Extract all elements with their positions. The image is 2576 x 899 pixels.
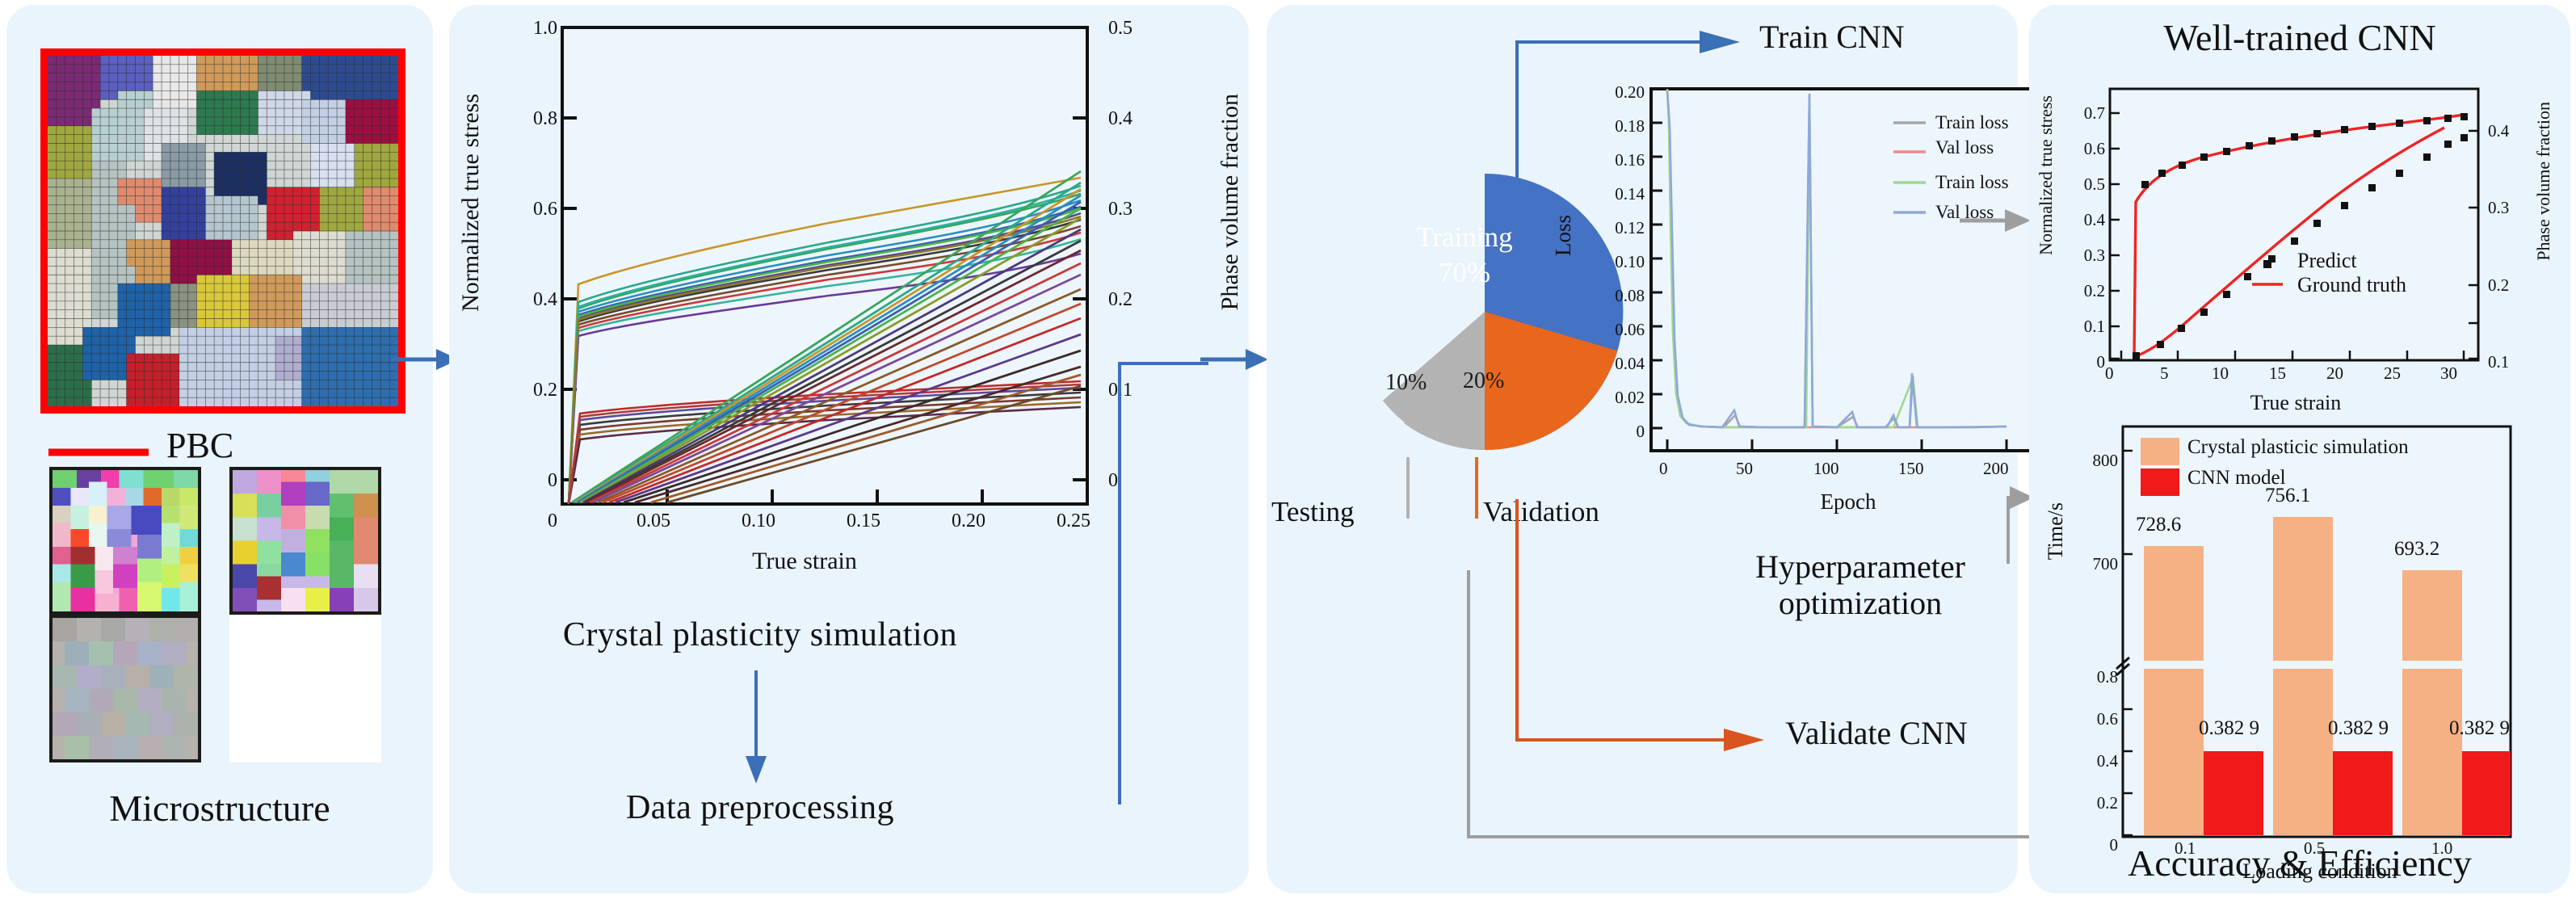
preprocessing-caption: Data preprocessing	[449, 788, 1071, 827]
rve-pbc-border	[40, 48, 406, 414]
predict-chart-xlabel: True strain	[2175, 391, 2417, 415]
loss-legend-label-2: Train loss	[1935, 172, 2009, 193]
elbow-training-to-results	[1460, 570, 2074, 877]
bar-value-cnn-1: 0.382 9	[2328, 717, 2389, 740]
loss-curve-chart: Train loss Val loss Train loss Val loss	[1651, 89, 2039, 451]
stress-chart-y2label: Phase volume fraction	[1217, 94, 1241, 310]
loss-legend-label-0: Train loss	[1935, 112, 2009, 133]
predict-legend-label-predict: Predict	[2297, 249, 2357, 273]
pie-validation-pct: 20%	[1463, 368, 1504, 394]
pie-testing-leader-line	[1404, 457, 1412, 519]
predict-vs-truth-chart: Predict Ground truth	[2110, 89, 2478, 360]
predict-chart-x-ticks: 0 5 10 15 20 25 30	[2100, 363, 2488, 391]
results-panel: Well-trained CNN Normalized true stress …	[2029, 5, 2570, 893]
bars-cnn	[2204, 751, 2511, 835]
loss-legend-label-1: Val loss	[1935, 137, 1994, 158]
microstructure-thumb-grains	[229, 467, 381, 615]
predict-chart-ylabel: Normalized true stress	[2036, 95, 2057, 255]
grain-map-image	[233, 470, 378, 611]
arrow-preprocessing-to-training	[1200, 339, 1270, 380]
results-caption: Accuracy & Efficiency	[2029, 842, 2570, 884]
time-legend-label-sim: Crystal plasticic simulation	[2187, 436, 2409, 459]
microstructure-caption: Microstructure	[6, 787, 433, 830]
loss-chart-y-ticks: 0.20 0.18 0.16 0.14 0.12 0.10 0.08 0.06 …	[1574, 82, 1648, 462]
microstructure-thumb-orientation	[49, 467, 201, 615]
bar-value-sim-2: 693.2	[2394, 538, 2439, 561]
bar-value-sim-1: 756.1	[2265, 485, 2310, 507]
stress-chart-xlabel: True strain	[675, 548, 934, 575]
pie-testing-label: Testing	[1271, 496, 1355, 528]
pbc-legend: PBC	[45, 428, 401, 472]
rve-microstructure-image	[48, 56, 398, 406]
arrow-simulation-to-preprocessing	[740, 670, 772, 783]
time-bar-plot	[2123, 426, 2511, 837]
time-comparison-chart: Crystal plasticic simulation CNN model 7…	[2123, 426, 2511, 837]
predict-chart-y2-ticks: 0.4 0.3 0.2 0.1 0	[2483, 82, 2536, 389]
results-title: Well-trained CNN	[2029, 16, 2570, 59]
predict-chart-y-ticks: 0.7 0.6 0.5 0.4 0.3 0.2 0.1 0	[2055, 82, 2108, 389]
stress-strain-plot	[562, 27, 1087, 504]
train-cnn-label: Train CNN	[1759, 19, 1905, 56]
time-chart-y-ticks: 800 700 0.8 0.6 0.4 0.2 0	[2063, 428, 2121, 800]
arrow-training-to-wellTrained	[1960, 200, 2032, 241]
bar-value-cnn-0: 0.382 9	[2199, 717, 2259, 740]
arrow-training-to-results	[1960, 477, 2032, 565]
microstructure-panel: PBC	[6, 5, 433, 893]
elbow-preprocessing-to-training	[1112, 352, 1273, 804]
grey-phase-map-image	[53, 618, 198, 759]
simulation-caption: Crystal plasticity simulation	[449, 615, 1071, 654]
microstructure-thumb-grey	[49, 615, 201, 762]
bar-value-cnn-2: 0.382 9	[2449, 717, 2510, 740]
loss-chart-ylabel: Loss	[1551, 215, 1576, 256]
predict-legend-label-truth: Ground truth	[2297, 273, 2406, 297]
pie-training-pct: 70%	[1331, 257, 1598, 289]
stress-chart-y-ticks: 1.0 0.8 0.6 0.4 0.2 0	[483, 5, 562, 538]
predict-plot	[2110, 89, 2478, 360]
stress-chart-x-ticks: 0 0.05 0.10 0.15 0.20 0.25	[530, 510, 1144, 543]
pie-testing-pct: 10%	[1385, 370, 1427, 396]
pbc-label: PBC	[166, 425, 233, 466]
stress-strain-chart	[562, 27, 1087, 504]
microstructure-thumb-blank	[229, 615, 381, 762]
training-panel: Train CNN Training 70% 10% 20% Testing V…	[1267, 5, 2018, 893]
stress-chart-ylabel: Normalized true stress	[457, 94, 481, 312]
bar-value-sim-0: 728.6	[2136, 514, 2181, 536]
simulation-panel: Normalized true stress Phase volume frac…	[449, 5, 1249, 893]
orientation-map-image	[53, 470, 198, 611]
